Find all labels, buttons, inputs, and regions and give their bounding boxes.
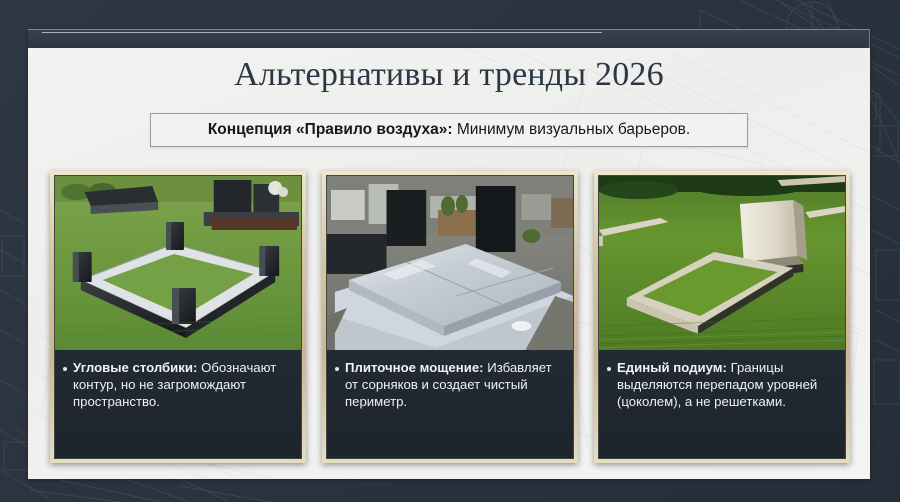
card-caption: Плиточное мощение: Избавляет от сорняков… [327, 350, 573, 458]
slide-header-band [28, 29, 870, 48]
header-rule-line [42, 32, 602, 33]
bullet-icon [607, 367, 611, 371]
card-caption-text: Плиточное мощение: Избавляет от сорняков… [345, 359, 564, 410]
photo-single-podium [599, 176, 845, 350]
card-caption-text: Угловые столбики: Обозначают контур, но … [73, 359, 292, 410]
page-title: Альтернативы и тренды 2026 [28, 56, 870, 94]
card-single-podium[interactable]: Единый подиум: Границы выделяются перепа… [594, 171, 850, 463]
concept-banner-lead: Концепция «Правило воздуха»: [208, 121, 453, 138]
card-caption: Угловые столбики: Обозначают контур, но … [55, 350, 301, 458]
bullet-icon [63, 367, 67, 371]
card-caption-lead: Угловые столбики: [73, 360, 197, 375]
card-tile-paving[interactable]: Плиточное мощение: Избавляет от сорняков… [322, 171, 578, 463]
card-corner-posts[interactable]: Угловые столбики: Обозначают контур, но … [50, 171, 306, 463]
slide-stage: Альтернативы и тренды 2026 Концепция «Пр… [0, 0, 900, 502]
card-caption-text: Единый подиум: Границы выделяются перепа… [617, 359, 836, 410]
card-caption-lead: Плиточное мощение: [345, 360, 484, 375]
card-caption-lead: Единый подиум: [617, 360, 727, 375]
concept-banner-text: Концепция «Правило воздуха»: Минимум виз… [208, 121, 690, 139]
photo-tile-paving [327, 176, 573, 350]
concept-banner: Концепция «Правило воздуха»: Минимум виз… [150, 113, 748, 147]
card-inner: Плиточное мощение: Избавляет от сорняков… [326, 175, 574, 459]
card-inner: Угловые столбики: Обозначают контур, но … [54, 175, 302, 459]
presentation-slide: Альтернативы и тренды 2026 Концепция «Пр… [28, 29, 870, 479]
card-inner: Единый подиум: Границы выделяются перепа… [598, 175, 846, 459]
photo-corner-posts [55, 176, 301, 350]
bullet-icon [335, 367, 339, 371]
card-caption: Единый подиум: Границы выделяются перепа… [599, 350, 845, 458]
concept-banner-rest: Минимум визуальных барьеров. [453, 121, 691, 138]
cards-row: Угловые столбики: Обозначают контур, но … [50, 171, 850, 463]
